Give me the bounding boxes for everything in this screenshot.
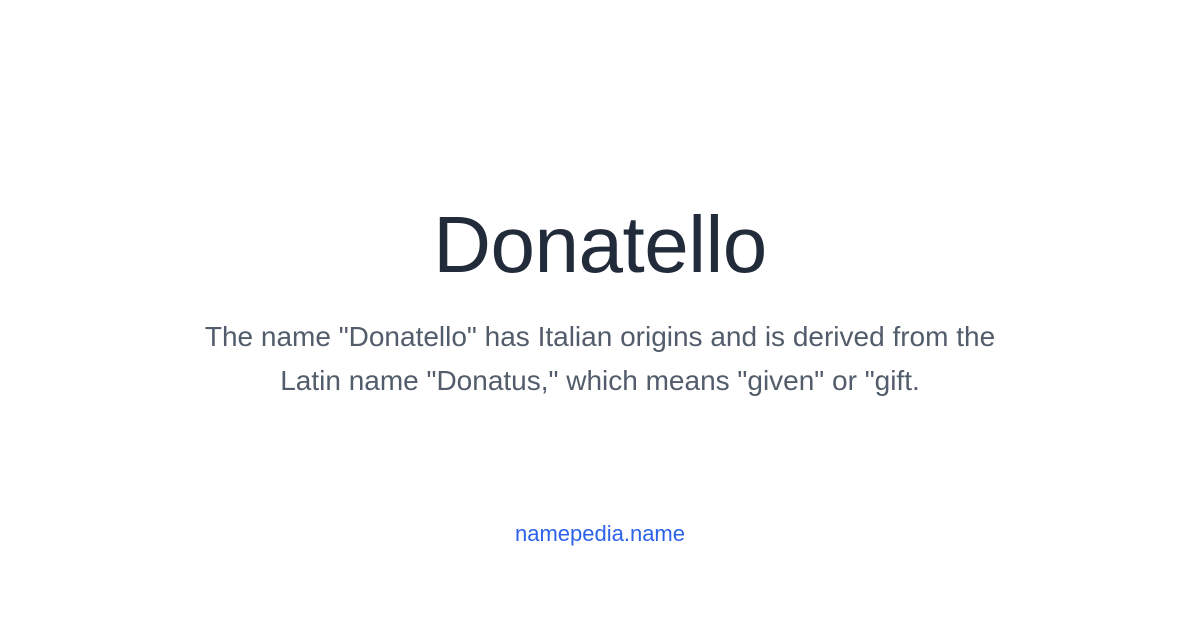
page-title: Donatello [0,205,1200,285]
name-meaning-card: Donatello The name "Donatello" has Itali… [0,0,1200,630]
name-description: The name "Donatello" has Italian origins… [178,315,1022,403]
site-link[interactable]: namepedia.name [0,520,1200,548]
